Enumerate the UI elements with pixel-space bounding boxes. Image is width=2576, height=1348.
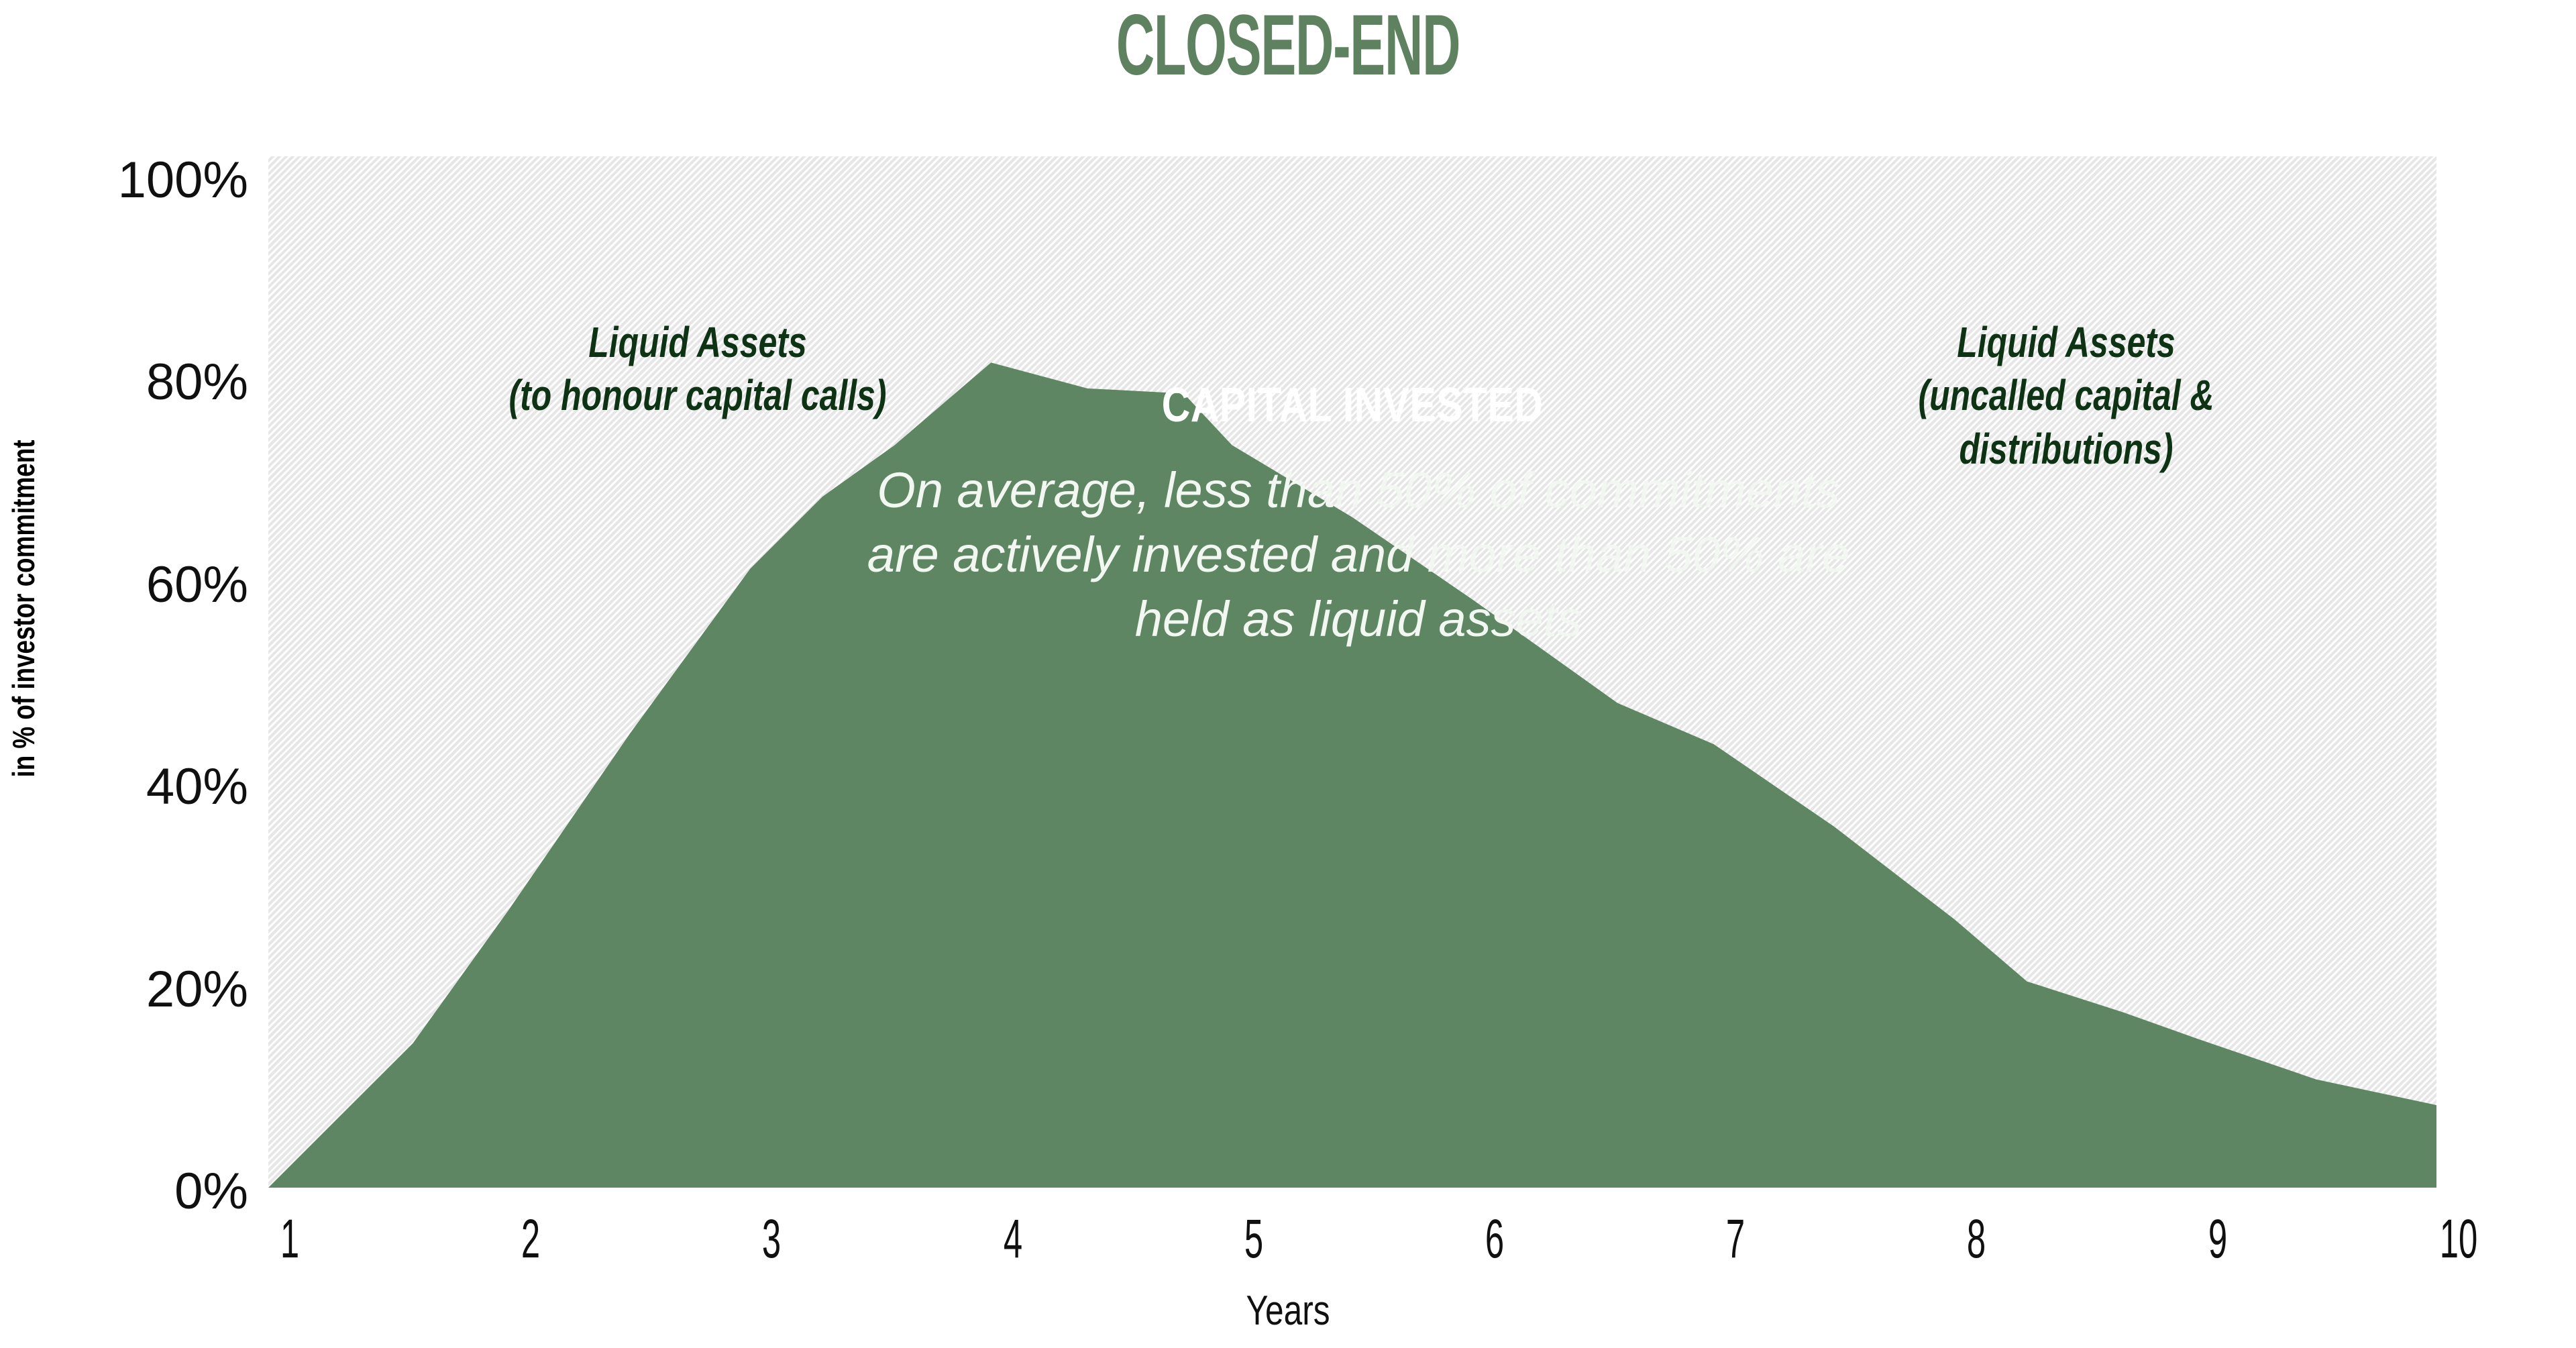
annotation-capital-invested-heading: CAPITAL INVESTED	[464, 378, 2241, 433]
y-axis-title: in % of investor commitment	[5, 437, 42, 780]
chart-title: CLOSED-END	[490, 3, 2087, 89]
x-tick-6: 6	[1453, 1208, 1536, 1271]
y-tick-60: 60%	[34, 556, 248, 614]
x-tick-2: 2	[489, 1208, 572, 1271]
y-tick-80: 80%	[34, 353, 248, 411]
y-tick-100: 100%	[34, 151, 248, 209]
x-tick-5: 5	[1212, 1208, 1295, 1271]
x-axis-title: Years	[258, 1287, 2318, 1335]
x-tick-9: 9	[2176, 1208, 2259, 1271]
x-tick-4: 4	[971, 1208, 1055, 1271]
x-tick-3: 3	[730, 1208, 813, 1271]
y-tick-40: 40%	[34, 758, 248, 816]
y-tick-0: 0%	[34, 1162, 248, 1221]
x-tick-8: 8	[1935, 1208, 2018, 1271]
y-tick-20: 20%	[34, 960, 248, 1019]
x-tick-10: 10	[2417, 1208, 2500, 1271]
x-tick-7: 7	[1694, 1208, 1777, 1271]
area-chart-series	[268, 156, 2436, 1188]
x-tick-1: 1	[248, 1208, 331, 1271]
annotation-capital-invested-body: On average, less than 50% of commitments…	[570, 458, 2147, 652]
plot-area: Liquid Assets (to honour capital calls) …	[268, 156, 2436, 1188]
